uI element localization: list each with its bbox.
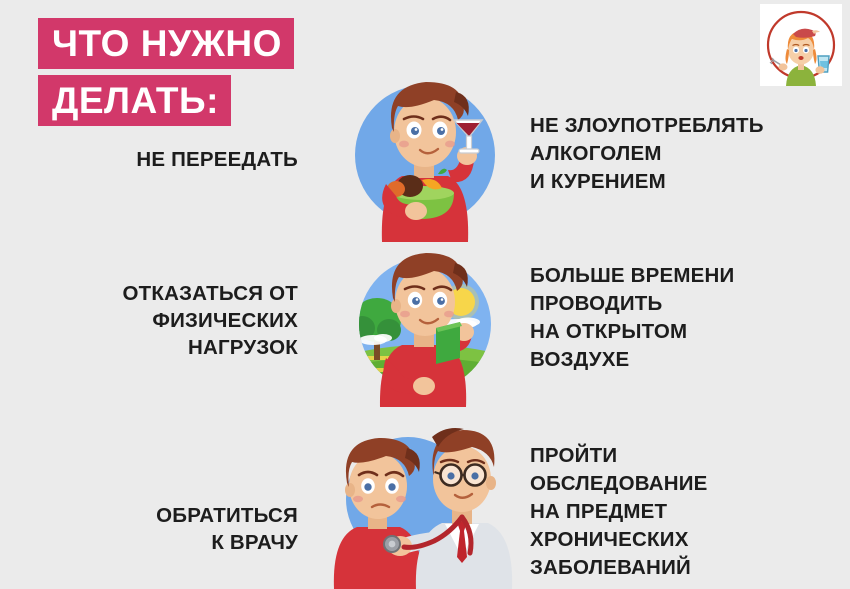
advice-row-2: ОТКАЗАТЬСЯ ОТ ФИЗИЧЕСКИХ НАГРУЗОК xyxy=(0,242,850,407)
row-2-right-line-3: НА ОТКРЫТОМ xyxy=(530,318,735,346)
doctor-examining-patient-illustration xyxy=(312,407,527,589)
row-2-left-line-2: ФИЗИЧЕСКИХ xyxy=(123,307,298,334)
infographic-poster: ЧТО НУЖНО ДЕЛАТЬ: xyxy=(0,0,850,589)
row-3-right-line-2: ОБСЛЕДОВАНИЕ xyxy=(530,470,708,498)
advice-row-3: ОБРАТИТЬСЯ К ВРАЧУ xyxy=(0,407,850,589)
row-1-right-line-3: И КУРЕНИЕМ xyxy=(530,168,764,196)
row-2-right-line-4: ВОЗДУХЕ xyxy=(530,346,735,374)
man-outdoors-with-tree-and-sun-illustration xyxy=(330,242,520,407)
row-1-left-line-1: НЕ ПЕРЕЕДАТЬ xyxy=(136,146,298,173)
row-3-right-line-3: НА ПРЕДМЕТ xyxy=(530,498,708,526)
row-2-right-label: БОЛЬШЕ ВРЕМЕНИ ПРОВОДИТЬ НА ОТКРЫТОМ ВОЗ… xyxy=(530,262,735,374)
row-3-right-line-1: ПРОЙТИ xyxy=(530,442,708,470)
row-3-left-line-1: ОБРАТИТЬСЯ xyxy=(156,502,298,529)
man-with-food-bowl-and-wine-glass-illustration xyxy=(330,62,520,242)
row-1-right-line-1: НЕ ЗЛОУПОТРЕБЛЯТЬ xyxy=(530,112,764,140)
row-1-left-label: НЕ ПЕРЕЕДАТЬ xyxy=(136,146,298,173)
row-2-left-label: ОТКАЗАТЬСЯ ОТ ФИЗИЧЕСКИХ НАГРУЗОК xyxy=(123,280,298,361)
row-1-right-line-2: АЛКОГОЛЕМ xyxy=(530,140,764,168)
row-3-left-label: ОБРАТИТЬСЯ К ВРАЧУ xyxy=(156,502,298,556)
row-2-right-line-1: БОЛЬШЕ ВРЕМЕНИ xyxy=(530,262,735,290)
row-3-right-line-5: ЗАБОЛЕВАНИЙ xyxy=(530,554,708,582)
row-3-right-label: ПРОЙТИ ОБСЛЕДОВАНИЕ НА ПРЕДМЕТ ХРОНИЧЕСК… xyxy=(530,442,708,582)
advice-row-1: НЕ ПЕРЕЕДАТЬ xyxy=(0,62,850,242)
row-3-left-line-2: К ВРАЧУ xyxy=(156,529,298,556)
row-1-right-label: НЕ ЗЛОУПОТРЕБЛЯТЬ АЛКОГОЛЕМ И КУРЕНИЕМ xyxy=(530,112,764,196)
row-3-right-line-4: ХРОНИЧЕСКИХ xyxy=(530,526,708,554)
row-2-left-line-1: ОТКАЗАТЬСЯ ОТ xyxy=(123,280,298,307)
row-2-left-line-3: НАГРУЗОК xyxy=(123,334,298,361)
row-2-right-line-2: ПРОВОДИТЬ xyxy=(530,290,735,318)
